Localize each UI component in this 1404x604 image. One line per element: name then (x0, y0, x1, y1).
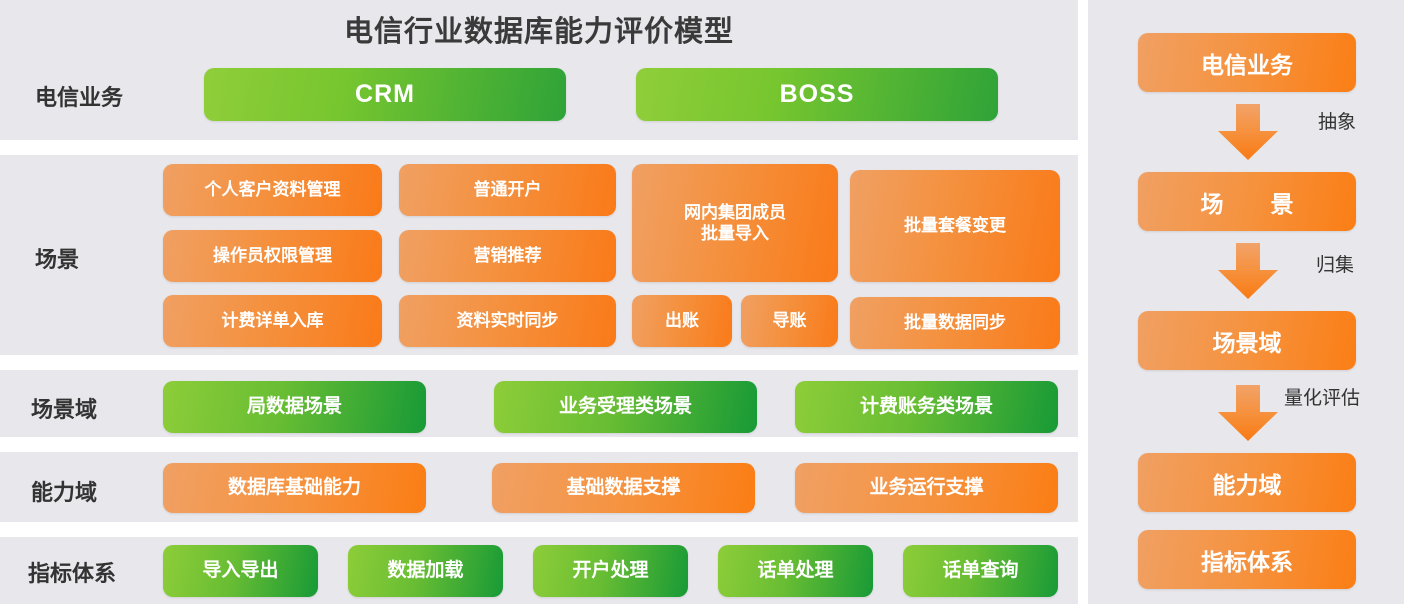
arrow-label-quantify: 量化评估 (1284, 383, 1360, 410)
row-label-index-system: 指标体系 (28, 556, 116, 588)
node-scene-batch-data-sync[interactable]: 批量数据同步 (850, 297, 1060, 349)
node-scene-realtime-data-sync[interactable]: 资料实时同步 (399, 295, 616, 347)
row-label-scene: 场景 (35, 242, 79, 274)
node-scene-account-export[interactable]: 导账 (741, 295, 838, 347)
node-index-data-load[interactable]: 数据加载 (348, 545, 503, 597)
flow-node-capability-domain[interactable]: 能力域 (1138, 453, 1356, 512)
flow-node-index-system[interactable]: 指标体系 (1138, 530, 1356, 589)
node-scene-personal-customer-profile[interactable]: 个人客户资料管理 (163, 164, 382, 216)
node-capability-db-basic[interactable]: 数据库基础能力 (163, 463, 426, 513)
arrow-label-abstract: 抽象 (1318, 107, 1356, 134)
arrow-down-icon-aggregate (1216, 243, 1280, 301)
node-domain-service-accept[interactable]: 业务受理类场景 (494, 381, 757, 433)
node-capability-basic-data[interactable]: 基础数据支撑 (492, 463, 755, 513)
flow-node-telecom-service[interactable]: 电信业务 (1138, 33, 1356, 92)
node-scene-billing-detail-load[interactable]: 计费详单入库 (163, 295, 382, 347)
node-scene-normal-account-open[interactable]: 普通开户 (399, 164, 616, 216)
arrow-label-aggregate: 归集 (1316, 250, 1354, 277)
page-title: 电信行业数据库能力评价模型 (0, 8, 1078, 50)
node-index-import-export[interactable]: 导入导出 (163, 545, 318, 597)
node-scene-group-member-batch-import[interactable]: 网内集团成员 批量导入 (632, 164, 838, 282)
node-index-cdr-query[interactable]: 话单查询 (903, 545, 1058, 597)
node-scene-marketing-recommend[interactable]: 营销推荐 (399, 230, 616, 282)
node-domain-bureau-data[interactable]: 局数据场景 (163, 381, 426, 433)
node-scene-operator-permission[interactable]: 操作员权限管理 (163, 230, 382, 282)
node-index-cdr-process[interactable]: 话单处理 (718, 545, 873, 597)
abstraction-flow-panel: 电信业务 场 景 场景域 能力域 指标体系 (1088, 0, 1404, 604)
arrow-down-icon-abstract (1216, 104, 1280, 162)
row-label-capability-domain: 能力域 (31, 475, 97, 507)
flow-node-scene[interactable]: 场 景 (1138, 172, 1356, 231)
node-scene-batch-package-change[interactable]: 批量套餐变更 (850, 170, 1060, 282)
flow-node-scene-domain[interactable]: 场景域 (1138, 311, 1356, 370)
node-index-account-open[interactable]: 开户处理 (533, 545, 688, 597)
diagram-root: 电信行业数据库能力评价模型 电信业务 场景 场景域 能力域 指标体系 CRM B… (0, 0, 1404, 604)
node-boss[interactable]: BOSS (636, 68, 998, 121)
node-crm[interactable]: CRM (204, 68, 566, 121)
arrow-down-icon-quantify (1216, 385, 1280, 443)
node-capability-business-runtime[interactable]: 业务运行支撑 (795, 463, 1058, 513)
node-domain-billing-account[interactable]: 计费账务类场景 (795, 381, 1058, 433)
row-label-telecom-service: 电信业务 (35, 80, 123, 112)
model-layers-panel: 电信行业数据库能力评价模型 电信业务 场景 场景域 能力域 指标体系 CRM B… (0, 0, 1078, 604)
node-scene-billing-out[interactable]: 出账 (632, 295, 732, 347)
row-label-scene-domain: 场景域 (31, 392, 97, 424)
